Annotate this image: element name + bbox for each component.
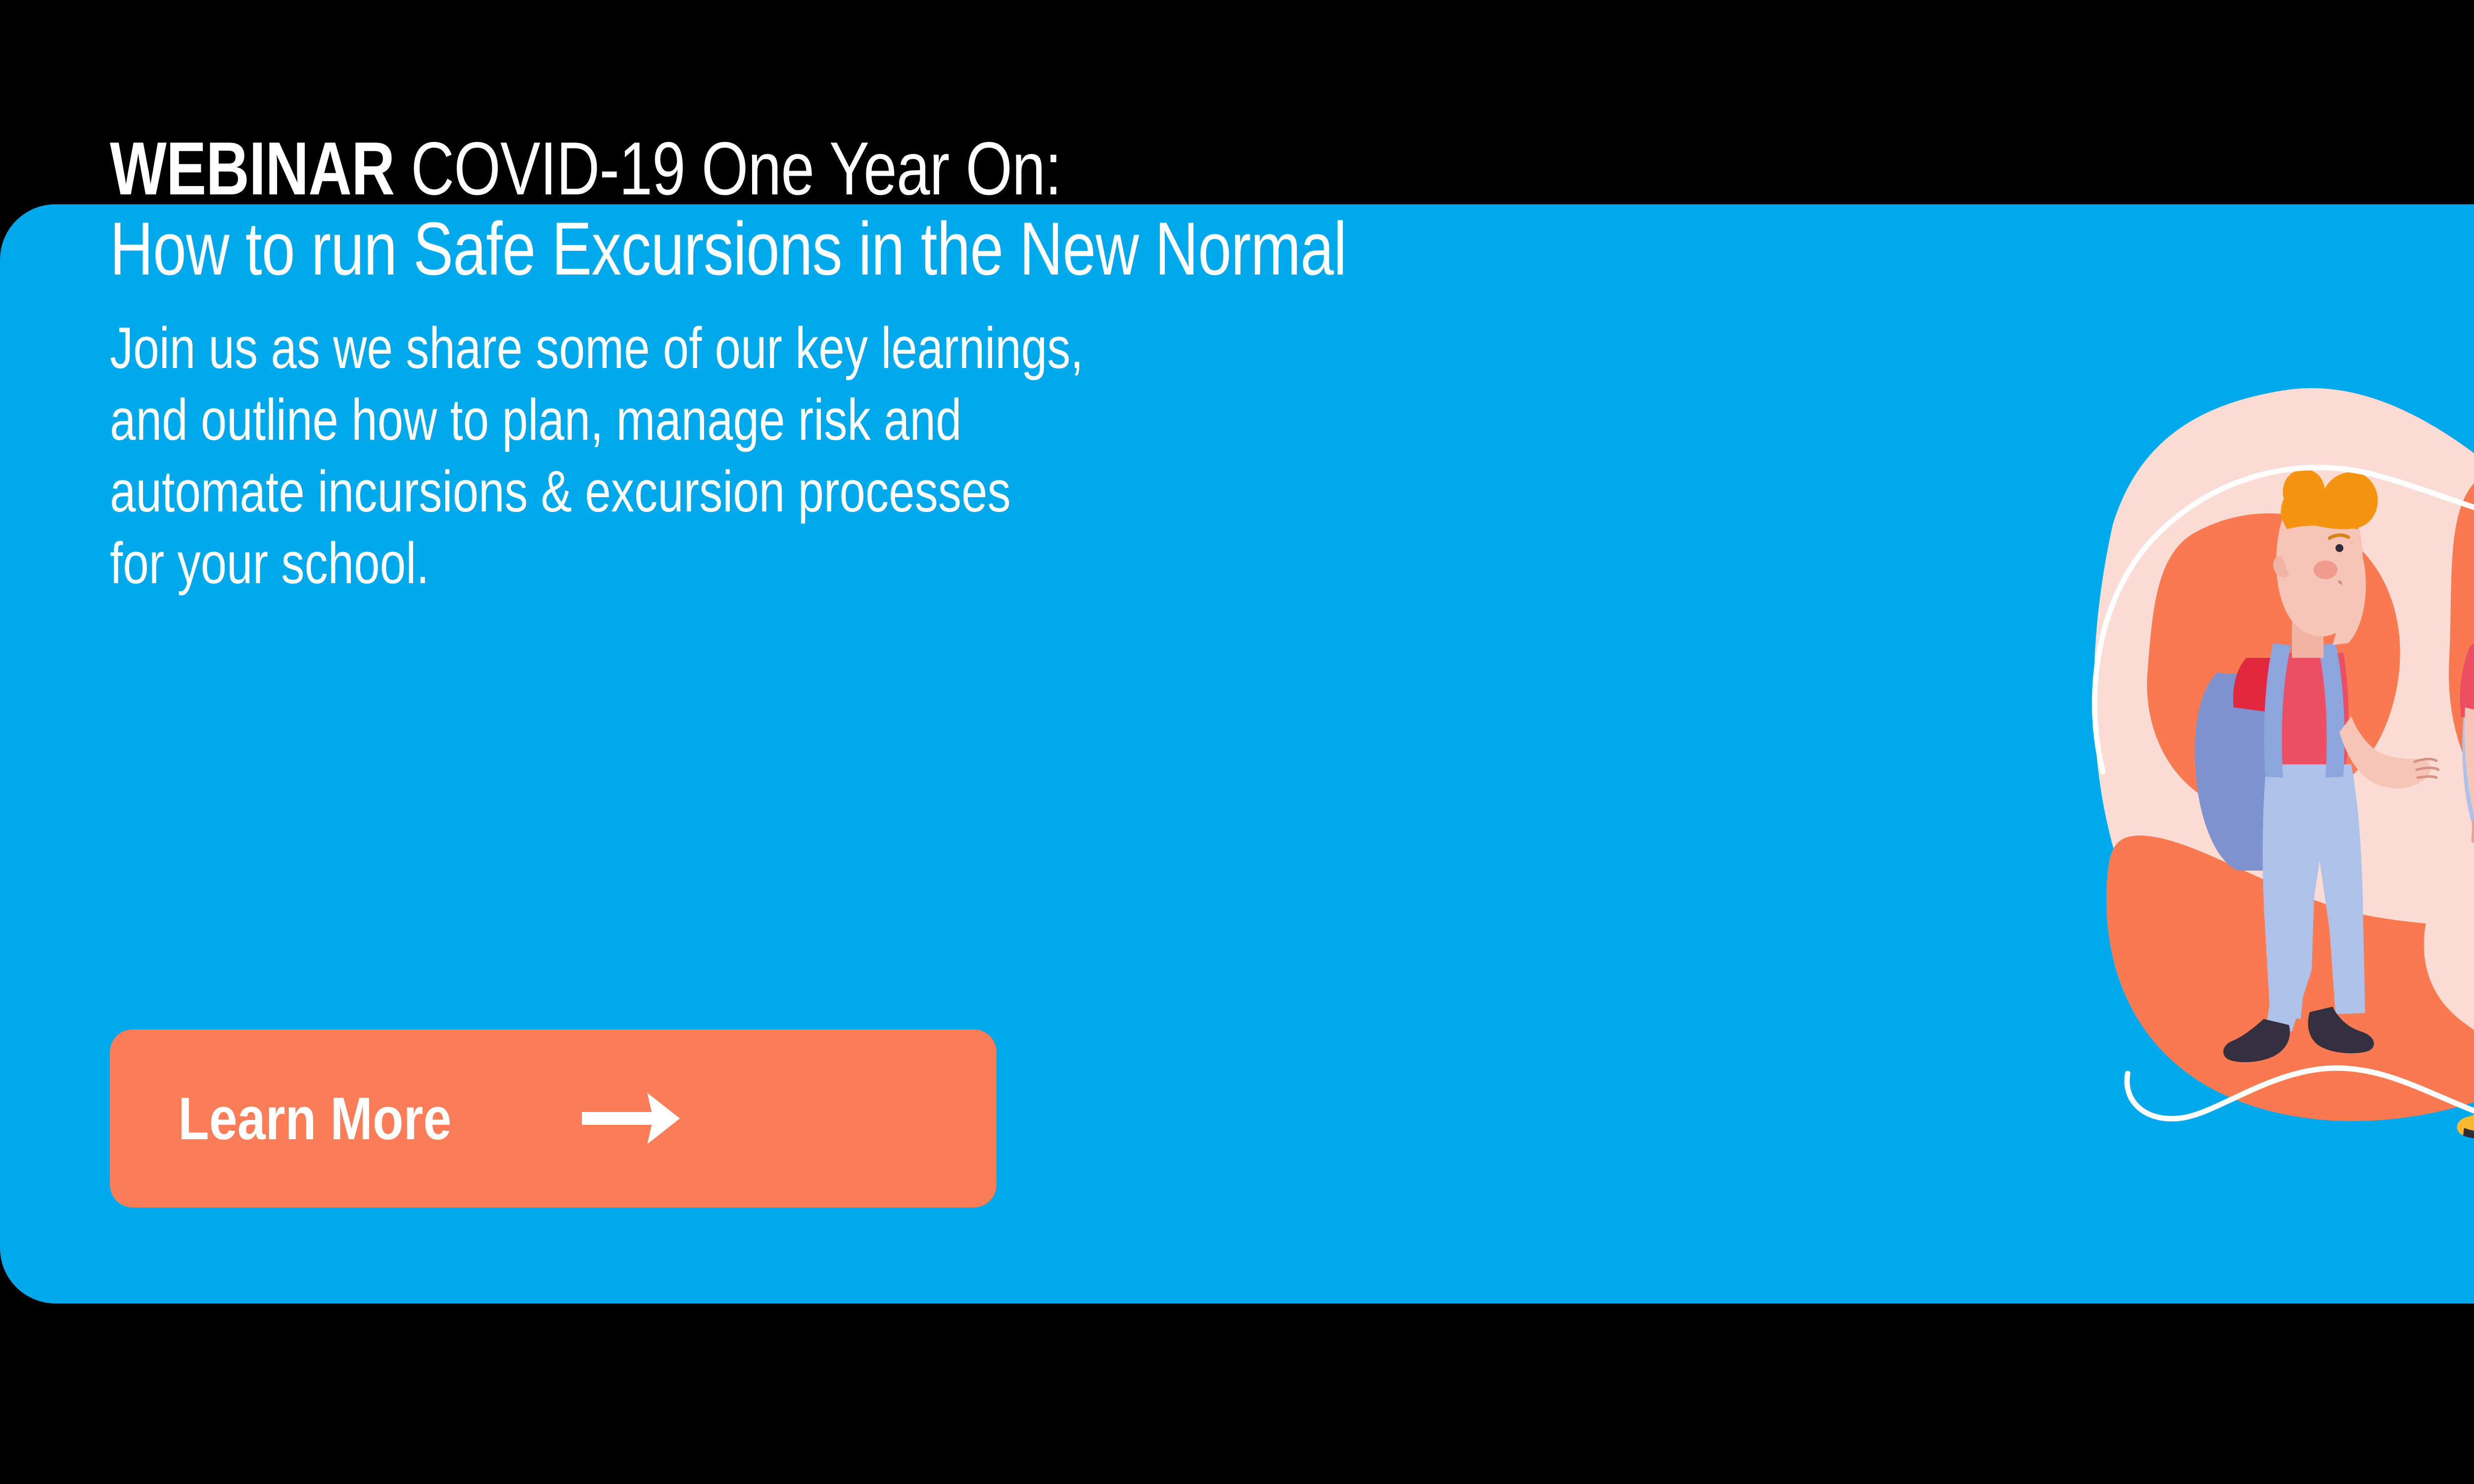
body-line-4: for your school.	[110, 528, 1614, 600]
learn-more-button[interactable]: Learn More	[110, 1029, 997, 1207]
body-line-2: and outline how to plan, manage risk and	[110, 384, 1614, 456]
headline-emphasis: WEBINAR	[110, 127, 394, 211]
body-line-3: automate incursions & excursion processe…	[110, 456, 1614, 528]
body-line-1: Join us as we share some of our key lear…	[110, 313, 1614, 384]
banner-content: WEBINAR COVID-19 One Year On: How to run…	[110, 129, 1990, 600]
page-title: WEBINAR COVID-19 One Year On: How to run…	[110, 129, 1614, 289]
headline-rest: COVID-19 One Year On:	[394, 127, 1061, 211]
banner-stage: WEBINAR COVID-19 One Year On: How to run…	[0, 0, 2474, 1484]
arrow-right-icon	[578, 1089, 687, 1148]
headline-line2: How to run Safe Excursions in the New No…	[110, 207, 1346, 291]
learn-more-label: Learn More	[178, 1084, 451, 1153]
banner-body-copy: Join us as we share some of our key lear…	[110, 313, 1614, 600]
